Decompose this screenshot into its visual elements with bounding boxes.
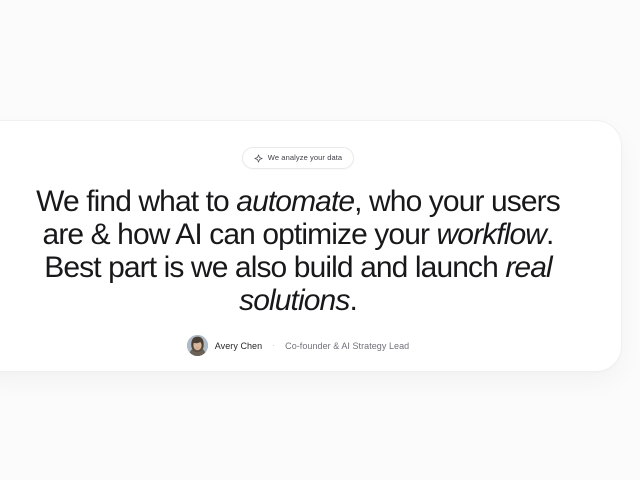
author-name: Avery Chen — [215, 341, 262, 351]
sparkle-star-icon — [254, 154, 263, 163]
quote-line-2: are & how AI can optimize your workflow. — [43, 218, 554, 251]
attribution-separator: · — [269, 341, 278, 350]
quote-line-4: solutions. — [239, 284, 357, 317]
quote-segment: . — [546, 218, 553, 251]
quote-line-1: We find what to automate, who your users — [36, 185, 560, 218]
quote-emphasis-automate: automate — [236, 185, 354, 218]
quote-line-3: Best part is we also build and launch re… — [44, 251, 552, 284]
testimonial-quote: We find what to automate, who your users… — [18, 185, 578, 317]
analyze-data-badge[interactable]: We analyze your data — [242, 147, 354, 169]
quote-segment: , who your users — [354, 185, 560, 218]
quote-segment: are & how AI can optimize your — [43, 218, 437, 251]
page-root: We analyze your data We find what to aut… — [0, 0, 640, 480]
quote-segment: We find what to — [36, 185, 236, 218]
quote-emphasis-workflow: workflow — [437, 218, 547, 251]
quote-segment: . — [349, 284, 356, 317]
quote-segment: Best part is we also build and launch — [44, 251, 505, 284]
quote-emphasis-solutions: solutions — [239, 284, 349, 317]
quote-emphasis-real: real — [505, 251, 551, 284]
testimonial-card: We analyze your data We find what to aut… — [0, 120, 622, 372]
avatar — [187, 335, 208, 356]
attribution-row: Avery Chen · Co-founder & AI Strategy Le… — [187, 335, 409, 356]
author-role: Co-founder & AI Strategy Lead — [285, 341, 409, 351]
analyze-data-badge-label: We analyze your data — [268, 154, 342, 162]
